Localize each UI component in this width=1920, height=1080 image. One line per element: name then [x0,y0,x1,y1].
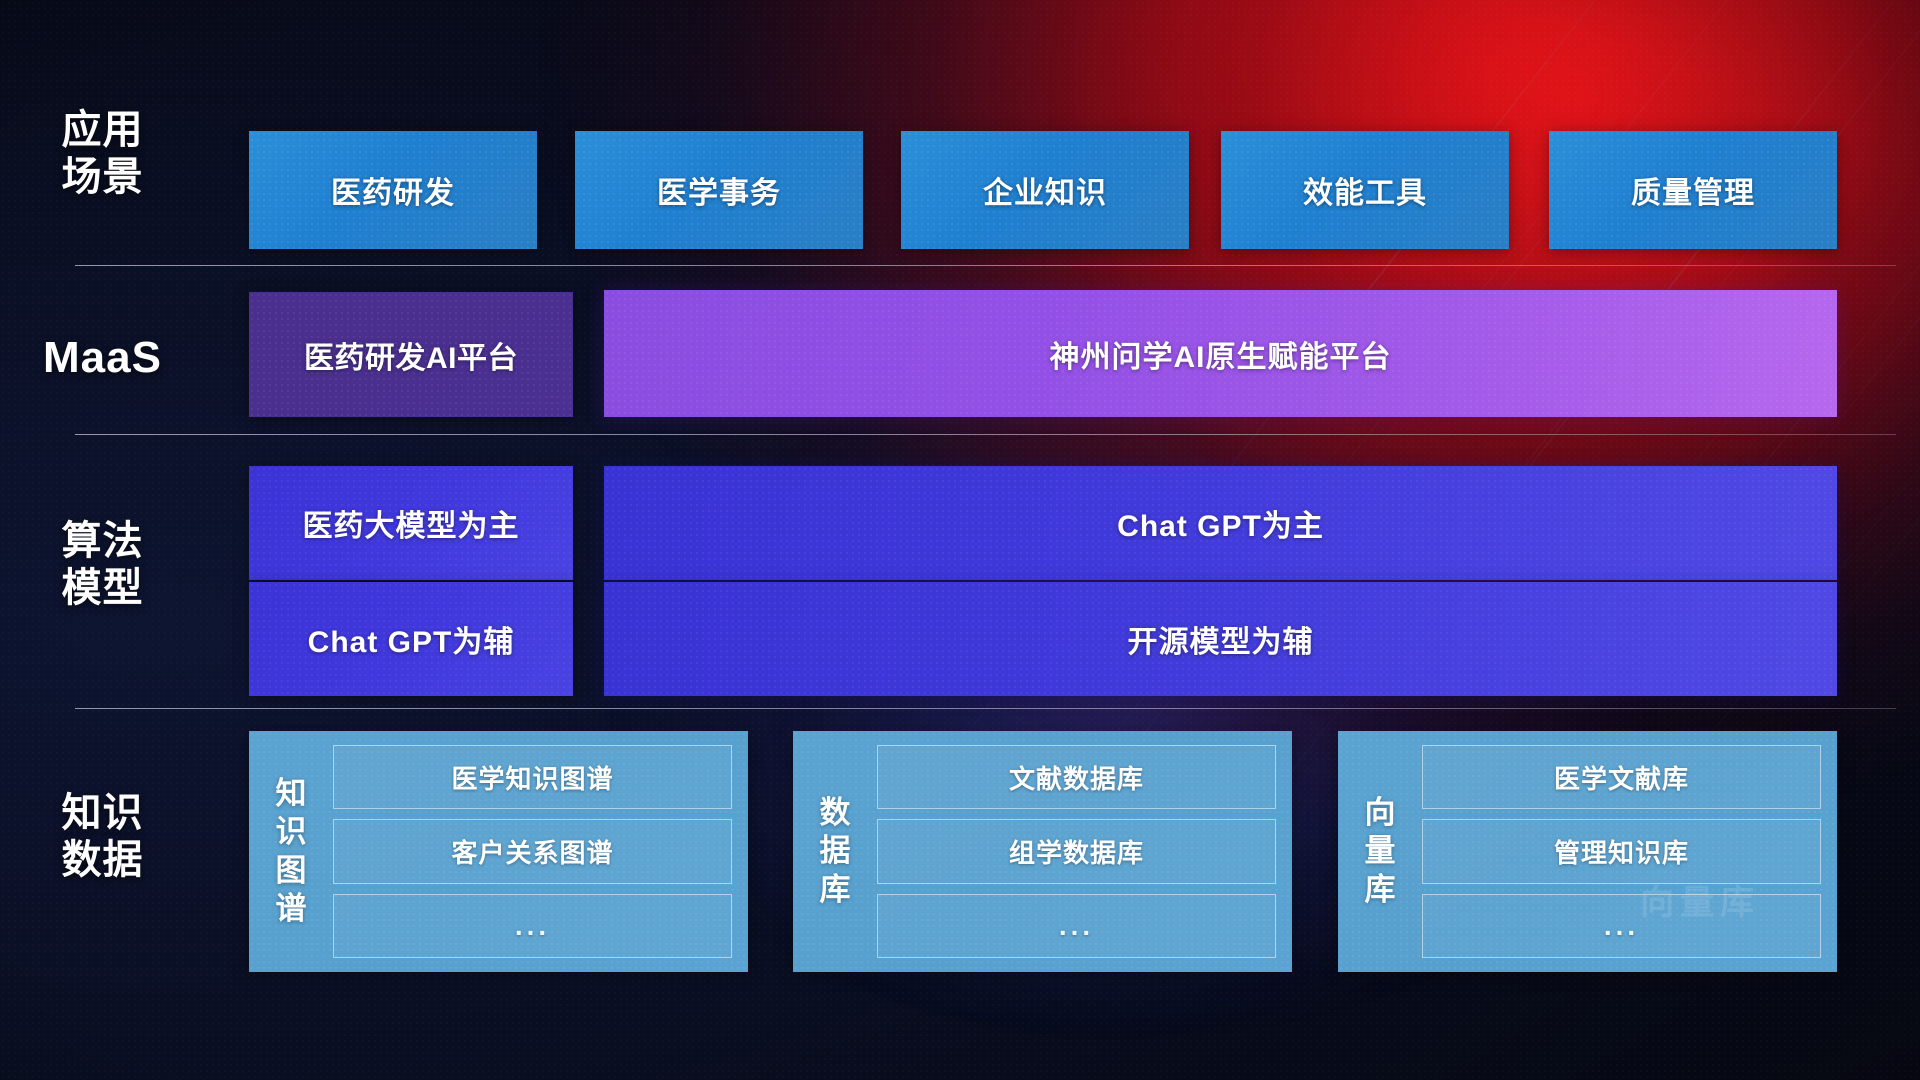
row-label-line: 知识 [0,790,205,837]
algo-box-chatgpt-secondary[interactable]: Chat GPT为辅 [249,582,573,696]
app-scenario-label: 质量管理 [1631,168,1755,212]
row-label-knowledge-data: 知识 数据 [0,790,205,884]
knowledge-card-title-char: 识 [276,813,307,851]
knowledge-card-title: 知 识 图 谱 [263,745,319,958]
knowledge-item-label: 管理知识库 [1554,833,1689,870]
knowledge-item-label: 医学知识图谱 [451,759,613,796]
knowledge-item[interactable]: 医学知识图谱 [333,745,732,809]
maas-platform-label: 神州问学AI原生赋能平台 [1050,332,1392,376]
knowledge-card-title-char: 向 [1365,794,1396,832]
knowledge-item-more[interactable]: ... [1422,894,1821,958]
app-scenario-box-quality-management[interactable]: 质量管理 [1549,131,1837,249]
knowledge-item[interactable]: 组学数据库 [877,819,1276,883]
knowledge-card-title-char: 知 [276,775,307,813]
app-scenario-box-enterprise-knowledge[interactable]: 企业知识 [901,131,1189,249]
knowledge-card-title-char: 库 [820,871,851,909]
knowledge-card-title-char: 谱 [276,890,307,928]
maas-platform-box-shenzhou-wenxue[interactable]: 神州问学AI原生赋能平台 [604,290,1837,417]
knowledge-card-items: 医学知识图谱 客户关系图谱 ... [333,745,732,958]
knowledge-item-label: 客户关系图谱 [451,833,613,870]
knowledge-card-title-char: 库 [1365,871,1396,909]
row-label-maas: MaaS [0,332,205,384]
knowledge-card-title-char: 据 [820,832,851,870]
knowledge-item-more[interactable]: ... [877,894,1276,958]
row-label-line: 模型 [0,565,205,612]
row-label-line: 场景 [0,154,205,201]
app-scenario-box-medical-affairs[interactable]: 医学事务 [575,131,863,249]
knowledge-item-label: 组学数据库 [1009,833,1144,870]
app-scenario-box-efficiency-tools[interactable]: 效能工具 [1221,131,1509,249]
knowledge-card-title-char: 图 [276,852,307,890]
algo-box-chatgpt-primary[interactable]: Chat GPT为主 [604,466,1837,580]
knowledge-item[interactable]: 医学文献库 [1422,745,1821,809]
knowledge-item[interactable]: 客户关系图谱 [333,819,732,883]
row-label-line: 数据 [0,837,205,884]
knowledge-item-label: ... [1059,910,1094,942]
knowledge-item-more[interactable]: ... [333,894,732,958]
knowledge-item[interactable]: 管理知识库 [1422,819,1821,883]
app-scenario-label: 医药研发 [331,168,455,212]
knowledge-item-label: ... [1604,910,1639,942]
knowledge-card-title-char: 数 [820,794,851,832]
knowledge-card-items: 医学文献库 管理知识库 ... [1422,745,1821,958]
maas-platform-box-medicine-rd-ai[interactable]: 医药研发AI平台 [249,292,573,417]
knowledge-card-title: 向 量 库 [1352,745,1408,958]
knowledge-card-knowledge-graph[interactable]: 知 识 图 谱 医学知识图谱 客户关系图谱 ... [249,731,748,972]
divider-after-application-scenarios [75,265,1896,266]
row-label-algorithm-model: 算法 模型 [0,518,205,612]
knowledge-item[interactable]: 文献数据库 [877,745,1276,809]
divider-after-maas [75,434,1896,435]
knowledge-card-database[interactable]: 数 据 库 文献数据库 组学数据库 ... [793,731,1292,972]
app-scenario-label: 企业知识 [983,168,1107,212]
knowledge-card-title-char: 量 [1365,832,1396,870]
algo-label: Chat GPT为辅 [308,617,515,661]
row-label-line: MaaS [0,332,205,384]
knowledge-card-items: 文献数据库 组学数据库 ... [877,745,1276,958]
knowledge-item-label: ... [515,910,550,942]
row-label-line: 算法 [0,518,205,565]
knowledge-card-vector-store[interactable]: 向 量 库 医学文献库 管理知识库 ... [1338,731,1837,972]
app-scenario-box-medicine-rd[interactable]: 医药研发 [249,131,537,249]
row-label-line: 应用 [0,107,205,154]
maas-platform-label: 医药研发AI平台 [304,333,518,377]
knowledge-item-label: 文献数据库 [1009,759,1144,796]
row-label-application-scenarios: 应用 场景 [0,107,205,201]
algo-label: 开源模型为辅 [1128,617,1314,661]
algo-box-open-source-secondary[interactable]: 开源模型为辅 [604,582,1837,696]
knowledge-card-title: 数 据 库 [807,745,863,958]
algo-label: Chat GPT为主 [1117,501,1324,545]
app-scenario-label: 效能工具 [1303,168,1427,212]
algo-box-medicine-large-model-primary[interactable]: 医药大模型为主 [249,466,573,580]
knowledge-item-label: 医学文献库 [1554,759,1689,796]
app-scenario-label: 医学事务 [657,168,781,212]
algo-label: 医药大模型为主 [303,501,520,545]
divider-after-algorithm-model [75,708,1896,709]
